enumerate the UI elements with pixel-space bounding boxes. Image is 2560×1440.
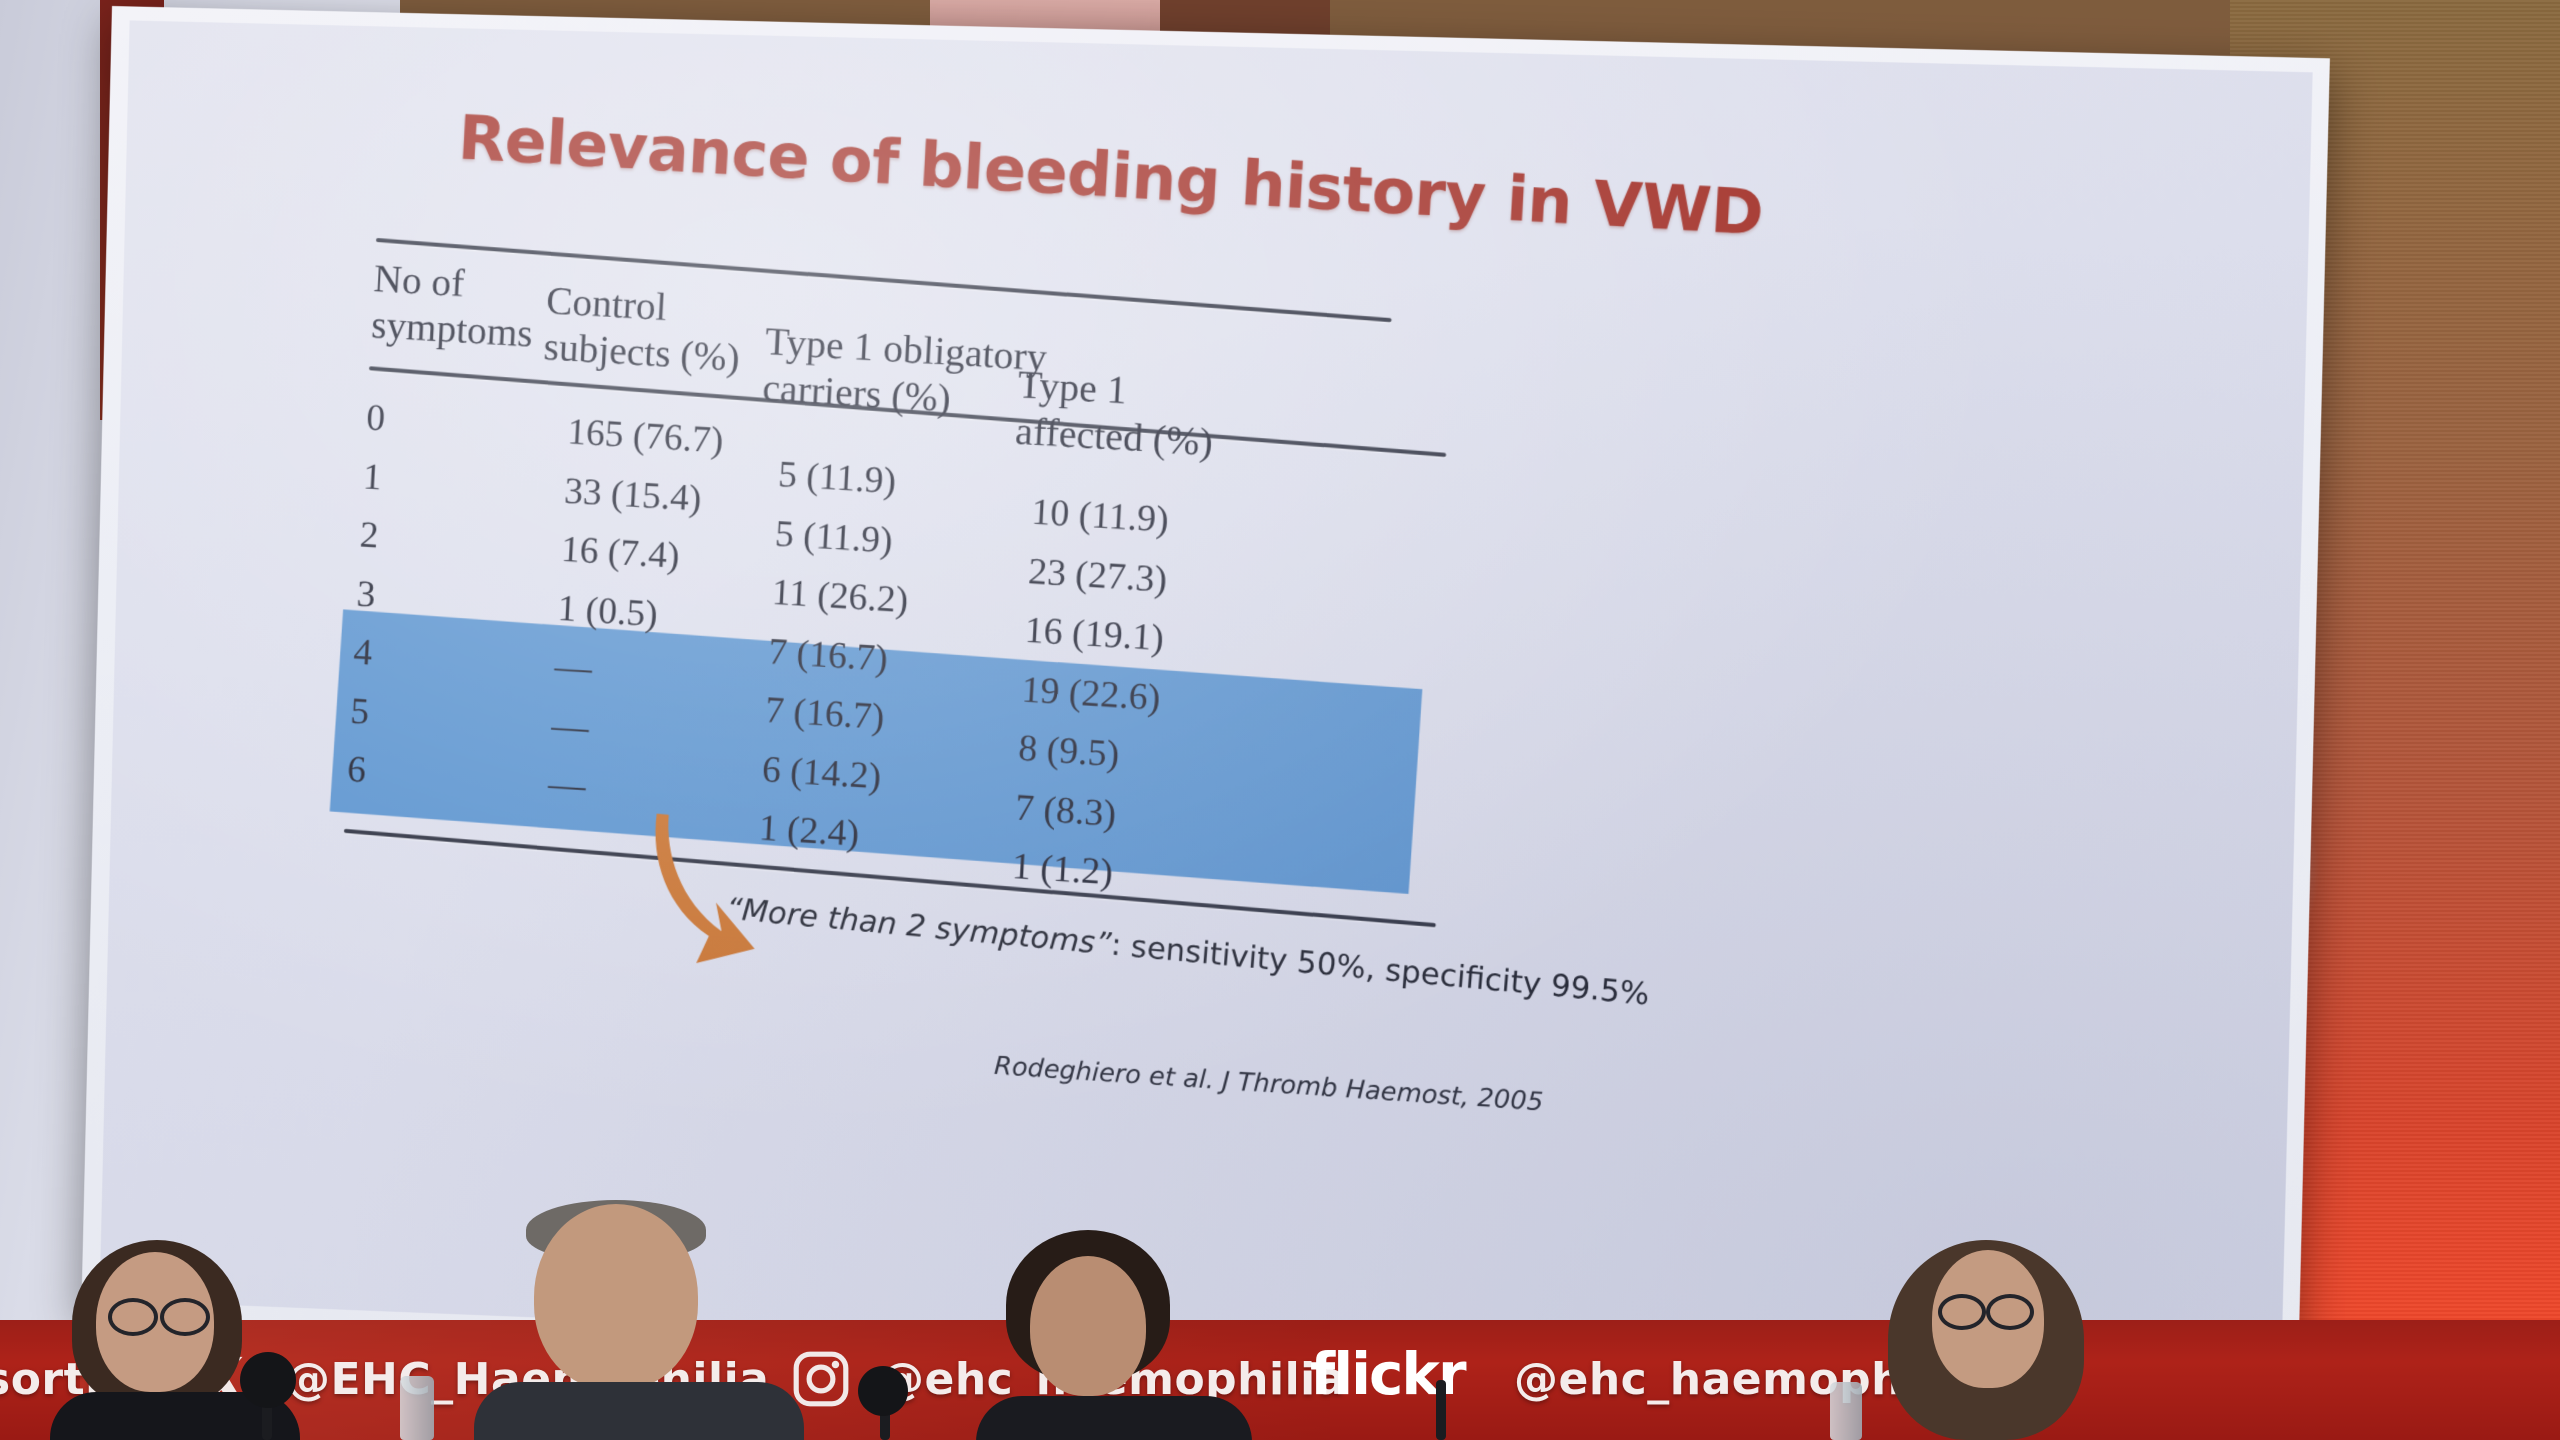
column-header-carriers: Type 1 obligatory carriers (%) <box>761 319 1048 428</box>
table-cell: 7 (8.3) <box>1014 786 1117 836</box>
table-cell: 5 (11.9) <box>774 512 894 562</box>
microphone-3 <box>1436 1380 1446 1440</box>
table-cell: 1 (0.5) <box>557 586 659 635</box>
table-cell: 3 <box>356 572 377 616</box>
table-cell: 11 (26.2) <box>771 571 910 623</box>
table-cell: 7 (16.7) <box>764 688 885 739</box>
data-table: No of symptoms Control subjects (%) Type… <box>338 238 1662 1024</box>
screenshot-root: Relevance of bleeding history in VWD No … <box>0 0 2560 1440</box>
microphone-head-1 <box>240 1352 296 1408</box>
projection-screen: Relevance of bleeding history in VWD No … <box>81 6 2330 1405</box>
table-cell: — <box>550 704 590 750</box>
table-cell: 23 (27.3) <box>1027 549 1168 601</box>
presentation-slide: Relevance of bleeding history in VWD No … <box>100 20 2313 1387</box>
table-cell: 2 <box>359 513 380 557</box>
panelist-3 <box>990 1230 1240 1440</box>
table-cell: 6 (14.2) <box>761 747 882 798</box>
instagram-icon <box>790 1348 852 1415</box>
table-cell: 1 <box>362 455 383 499</box>
orange-arrow-icon <box>639 811 784 975</box>
table-cell: 16 (7.4) <box>560 528 681 578</box>
table-cell: — <box>554 645 594 691</box>
table-cell: 0 <box>365 396 386 440</box>
microphone-head-2 <box>858 1366 908 1416</box>
slide-caption: “More than 2 symptoms”: sensitivity 50%,… <box>725 891 1649 1012</box>
table-cell: 16 (19.1) <box>1024 608 1165 660</box>
panelist-2 <box>500 1200 790 1440</box>
table-cell: 165 (76.7) <box>566 410 724 462</box>
table-cell: 6 <box>346 748 367 792</box>
table-cell: 5 (11.9) <box>777 453 897 503</box>
water-bottle-2 <box>1830 1382 1862 1440</box>
table-cell: 19 (22.6) <box>1021 668 1162 720</box>
water-bottle-1 <box>400 1376 434 1440</box>
table-cell: 7 (16.7) <box>767 630 888 681</box>
caption-rest: : sensitivity 50%, specificity 99.5% <box>1109 927 1650 1013</box>
table-cell: 4 <box>352 631 373 675</box>
column-header-affected: Type 1 affected (%) <box>1014 362 1217 467</box>
table-cell: 10 (11.9) <box>1030 490 1170 542</box>
table-cell: 33 (15.4) <box>563 469 702 520</box>
panelist-4 <box>1880 1240 2140 1440</box>
event-banner: sortiu @EHC_Haemophilia @ehc_haemophilia… <box>0 1320 2560 1440</box>
table-cell: 1 (1.2) <box>1011 845 1114 895</box>
table-cell: 5 <box>349 689 370 733</box>
table-cell: — <box>547 763 587 809</box>
column-header-symptoms: No of symptoms <box>370 256 536 358</box>
slide-citation: Rodeghiero et al. J Thromb Haemost, 2005 <box>994 1051 1544 1117</box>
caption-emphasis: “More than 2 symptoms” <box>725 891 1113 962</box>
page-title: Relevance of bleeding history in VWD <box>456 102 1790 251</box>
table-cell: 8 (9.5) <box>1017 727 1120 777</box>
column-header-control: Control subjects (%) <box>543 278 744 382</box>
